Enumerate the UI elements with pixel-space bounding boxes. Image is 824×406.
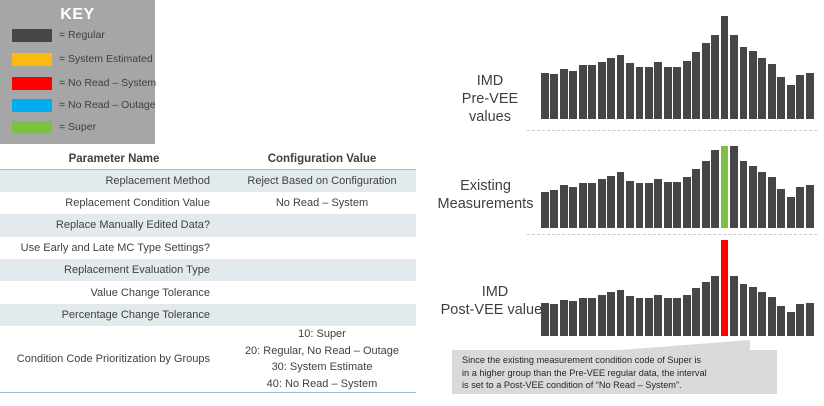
- bar: [588, 65, 596, 119]
- chart-existing-label: Existing Measurements: [428, 177, 543, 213]
- bar: [560, 69, 568, 119]
- bar: [683, 177, 691, 228]
- column-header-parameter-name: Parameter Name: [0, 148, 228, 170]
- bar: [673, 182, 681, 228]
- table-header-row: Parameter Name Configuration Value: [0, 148, 416, 170]
- bar: [617, 172, 625, 228]
- bar: [598, 295, 606, 336]
- bar: [673, 67, 681, 120]
- bar: [721, 16, 729, 119]
- chart-pre-vee-label: IMD Pre-VEE values: [440, 72, 540, 126]
- bar: [645, 67, 653, 120]
- key-row-system-estimated: = System Estimated: [12, 52, 153, 66]
- table-row: Value Change Tolerance: [0, 281, 416, 303]
- bar: [617, 55, 625, 119]
- bar: [579, 298, 587, 336]
- chart-pre-vee-bars: [541, 14, 814, 119]
- bar: [607, 292, 615, 336]
- table-row: Replacement MethodReject Based on Config…: [0, 170, 416, 192]
- bar: [787, 312, 795, 336]
- cell-parameter-name: Replacement Condition Value: [0, 192, 228, 214]
- cell-parameter-name: Use Early and Late MC Type Settings?: [0, 237, 228, 259]
- parameter-configuration-table: Parameter Name Configuration Value Repla…: [0, 148, 416, 393]
- table-row: Replace Manually Edited Data?: [0, 214, 416, 236]
- bar: [607, 58, 615, 119]
- table-row: Use Early and Late MC Type Settings?: [0, 237, 416, 259]
- key-swatch-no-read-system: [12, 77, 52, 90]
- bar: [654, 62, 662, 119]
- callout-note-text: Since the existing measurement condition…: [462, 354, 772, 392]
- cell-configuration-value: [228, 214, 416, 236]
- key-label-no-read-system: = No Read – System: [59, 77, 156, 90]
- bar: [654, 295, 662, 336]
- key-label-system-estimated: = System Estimated: [59, 53, 153, 66]
- bar: [654, 179, 662, 228]
- table-row: Replacement Evaluation Type: [0, 259, 416, 281]
- bar: [541, 192, 549, 228]
- bar: [626, 63, 634, 119]
- bar: [664, 182, 672, 228]
- key-title: KEY: [0, 6, 155, 24]
- bar: [806, 73, 814, 119]
- bar: [711, 276, 719, 336]
- bar: [636, 183, 644, 228]
- bar: [607, 176, 615, 228]
- cell-configuration-value: [228, 304, 416, 326]
- bar: [806, 185, 814, 228]
- key-swatch-system-estimated: [12, 53, 52, 66]
- column-header-configuration-value: Configuration Value: [228, 148, 416, 170]
- bar: [664, 67, 672, 120]
- key-row-super: = Super: [12, 120, 96, 134]
- chart-existing-bars: [541, 146, 814, 228]
- bar: [598, 62, 606, 119]
- bar: [598, 179, 606, 228]
- key-row-regular: = Regular: [12, 28, 105, 42]
- cell-parameter-name: Percentage Change Tolerance: [0, 304, 228, 326]
- bar: [758, 58, 766, 119]
- key-label-no-read-outage: = No Read – Outage: [59, 99, 156, 112]
- key-label-regular: = Regular: [59, 29, 105, 42]
- bar: [711, 35, 719, 119]
- bar: [673, 298, 681, 336]
- table-row: Replacement Condition ValueNo Read – Sys…: [0, 192, 416, 214]
- cell-configuration-value: No Read – System: [228, 192, 416, 214]
- bar: [758, 172, 766, 228]
- bar: [636, 298, 644, 336]
- bar: [541, 73, 549, 119]
- bar: [550, 304, 558, 336]
- bar: [702, 43, 710, 119]
- cell-configuration-value: [228, 237, 416, 259]
- bar: [711, 150, 719, 228]
- bar: [683, 295, 691, 336]
- bar: [550, 190, 558, 228]
- cell-parameter-name: Condition Code Prioritization by Groups: [0, 326, 228, 393]
- key-row-no-read-outage: = No Read – Outage: [12, 98, 156, 112]
- bar: [550, 74, 558, 119]
- chart-post-vee-bars: [541, 238, 814, 336]
- cell-parameter-name: Replace Manually Edited Data?: [0, 214, 228, 236]
- bar-no-read-system: [721, 240, 729, 336]
- bar: [569, 71, 577, 119]
- bar: [560, 300, 568, 336]
- key-label-super: = Super: [59, 121, 96, 134]
- bar: [692, 169, 700, 228]
- bar: [768, 177, 776, 228]
- bar: [683, 61, 691, 119]
- bar: [588, 183, 596, 228]
- bar: [787, 85, 795, 119]
- bar: [777, 306, 785, 336]
- bar: [740, 47, 748, 119]
- bar: [768, 297, 776, 336]
- bar: [636, 67, 644, 120]
- key-swatch-no-read-outage: [12, 99, 52, 112]
- bar: [569, 187, 577, 228]
- bar: [702, 161, 710, 228]
- bar: [730, 35, 738, 119]
- table-row: Percentage Change Tolerance: [0, 304, 416, 326]
- cell-configuration-value: [228, 281, 416, 303]
- bar: [730, 146, 738, 228]
- bar: [588, 298, 596, 336]
- bar-super: [721, 146, 729, 228]
- bar: [787, 197, 795, 228]
- cell-parameter-name: Value Change Tolerance: [0, 281, 228, 303]
- bar: [569, 301, 577, 336]
- cell-configuration-value: Reject Based on Configuration: [228, 170, 416, 192]
- bar: [692, 52, 700, 119]
- bar: [796, 75, 804, 119]
- bar: [749, 166, 757, 228]
- divider-1: [527, 130, 817, 131]
- bar: [702, 282, 710, 336]
- key-swatch-regular: [12, 29, 52, 42]
- bar: [626, 296, 634, 336]
- table-row: Condition Code Prioritization by Groups1…: [0, 326, 416, 393]
- bar: [560, 185, 568, 228]
- bar: [758, 292, 766, 336]
- bar: [645, 298, 653, 336]
- bar: [579, 65, 587, 119]
- bar: [768, 64, 776, 119]
- bar: [796, 187, 804, 228]
- key-row-no-read-system: = No Read – System: [12, 76, 156, 90]
- bar: [777, 77, 785, 119]
- bar: [664, 298, 672, 336]
- chart-post-vee-label: IMD Post-VEE values: [440, 283, 550, 319]
- bar: [806, 303, 814, 336]
- bar: [645, 183, 653, 228]
- bar: [617, 290, 625, 336]
- bar: [626, 181, 634, 228]
- cell-parameter-name: Replacement Evaluation Type: [0, 259, 228, 281]
- bar: [777, 189, 785, 228]
- bar: [740, 161, 748, 228]
- bar: [579, 183, 587, 228]
- bar: [730, 276, 738, 336]
- bar: [692, 288, 700, 336]
- bar: [749, 51, 757, 119]
- cell-configuration-value: [228, 259, 416, 281]
- bar: [740, 284, 748, 336]
- divider-2: [527, 234, 817, 235]
- cell-parameter-name: Replacement Method: [0, 170, 228, 192]
- cell-configuration-value: 10: Super 20: Regular, No Read – Outage …: [228, 326, 416, 393]
- bar: [541, 303, 549, 336]
- bar: [749, 287, 757, 336]
- table-body: Replacement MethodReject Based on Config…: [0, 170, 416, 393]
- key-swatch-super: [12, 121, 52, 134]
- bar: [796, 304, 804, 336]
